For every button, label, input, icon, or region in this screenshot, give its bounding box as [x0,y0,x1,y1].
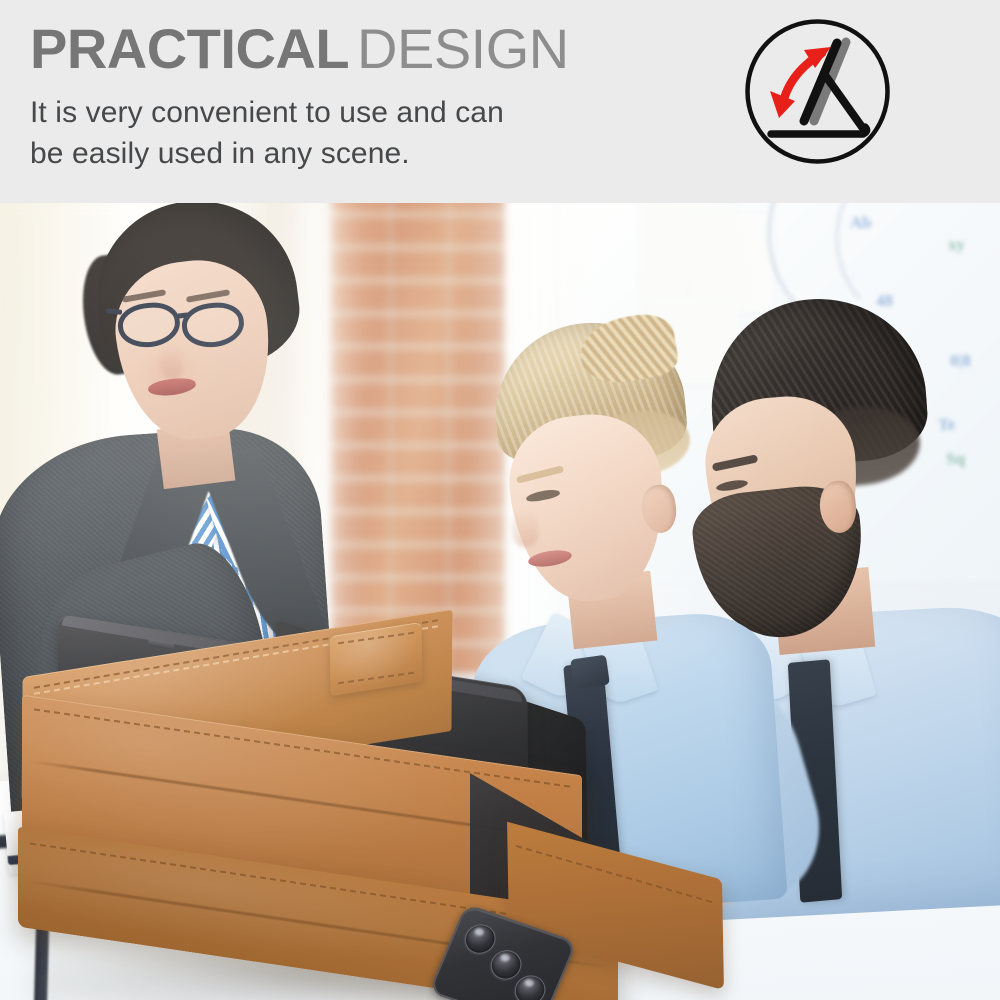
headline-secondary: DESIGN [357,17,569,80]
page-subtitle: It is very convenient to use and can be … [30,92,690,174]
whiteboard-writing: xy [948,235,965,255]
leather-wallet-phone-case [0,623,760,1000]
subtitle-line-2: be easily used in any scene. [30,133,690,174]
subtitle-line-1: It is very convenient to use and can [30,92,690,133]
product-feature-image: PRACTICALDESIGN It is very convenient to… [0,0,1000,1000]
office-lifestyle-photo: Ab xy 48 0|8 Te Sq [0,203,1000,1000]
headline-primary: PRACTICAL [30,17,349,80]
camera-lens [460,920,500,957]
adjustable-stand-icon [743,17,892,166]
header-band: PRACTICALDESIGN It is very convenient to… [0,0,1000,203]
page-title: PRACTICALDESIGN [30,18,690,80]
whiteboard-writing: Ab [850,213,872,233]
header-text-block: PRACTICALDESIGN It is very convenient to… [30,18,690,174]
